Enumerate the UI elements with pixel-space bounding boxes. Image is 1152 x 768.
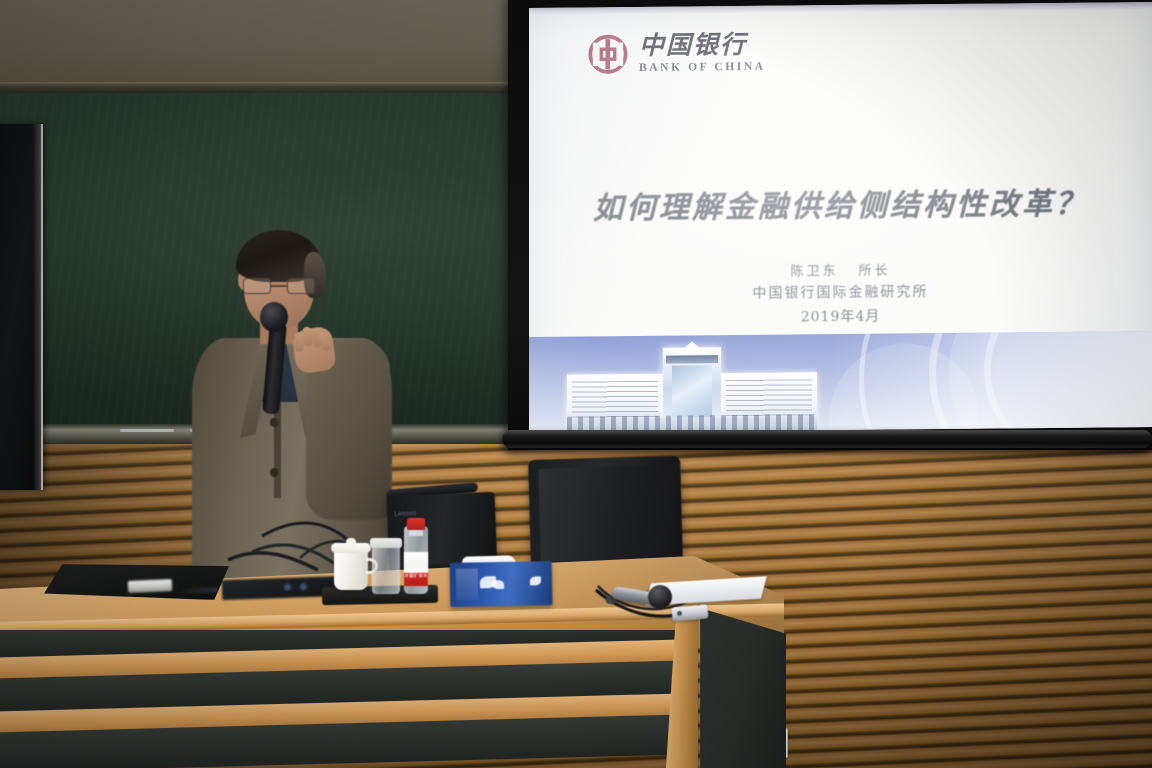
water-bottle-cap[interactable] [407,518,425,530]
slide-bottom-band [529,331,1152,433]
boc-headquarters-building [567,344,817,432]
slide-logo: 中国银行 BANK OF CHINA [587,32,766,76]
bank-of-china-logo-icon [587,33,629,75]
presentation-date: 2019年4月 [529,303,1152,332]
logo-chinese-name: 中国银行 [639,32,766,58]
lecture-hall-scene: 中国银行 BANK OF CHINA 如何理解金融供给侧结构性改革？ 陈卫东所长… [0,0,1152,768]
glasses-icon [242,278,318,295]
glass-tumbler-rim [370,538,402,548]
podium-front-panel [0,630,694,768]
butterfly-icon [492,580,504,589]
wall-tv-panel[interactable] [0,124,43,490]
presenter-role: 所长 [859,264,891,279]
water-bottle-label-text: 冰露矿泉水 [404,573,428,579]
butterfly-icon [530,576,541,585]
slide-subtitle-block: 陈卫东所长 中国银行国际金融研究所 2019年4月 [529,258,1152,332]
slide-title: 如何理解金融供给侧结构性改革？ [529,178,1152,228]
presenter-hand [291,325,337,374]
water-bottle-label: 冰露矿泉水 [404,552,428,586]
tissue-box[interactable] [450,561,553,607]
microphone-head-icon [260,302,288,332]
logo-english-name: BANK OF CHINA [639,62,766,75]
glass-tumbler[interactable] [372,542,400,594]
teacup[interactable] [334,548,368,590]
projection-screen-surface[interactable]: 中国银行 BANK OF CHINA 如何理解金融供给侧结构性改革？ 陈卫东所长… [529,2,1152,433]
teacup-lid-knob [346,538,356,545]
presenter-name: 陈卫东 [790,264,838,279]
jacket-button [270,418,278,426]
